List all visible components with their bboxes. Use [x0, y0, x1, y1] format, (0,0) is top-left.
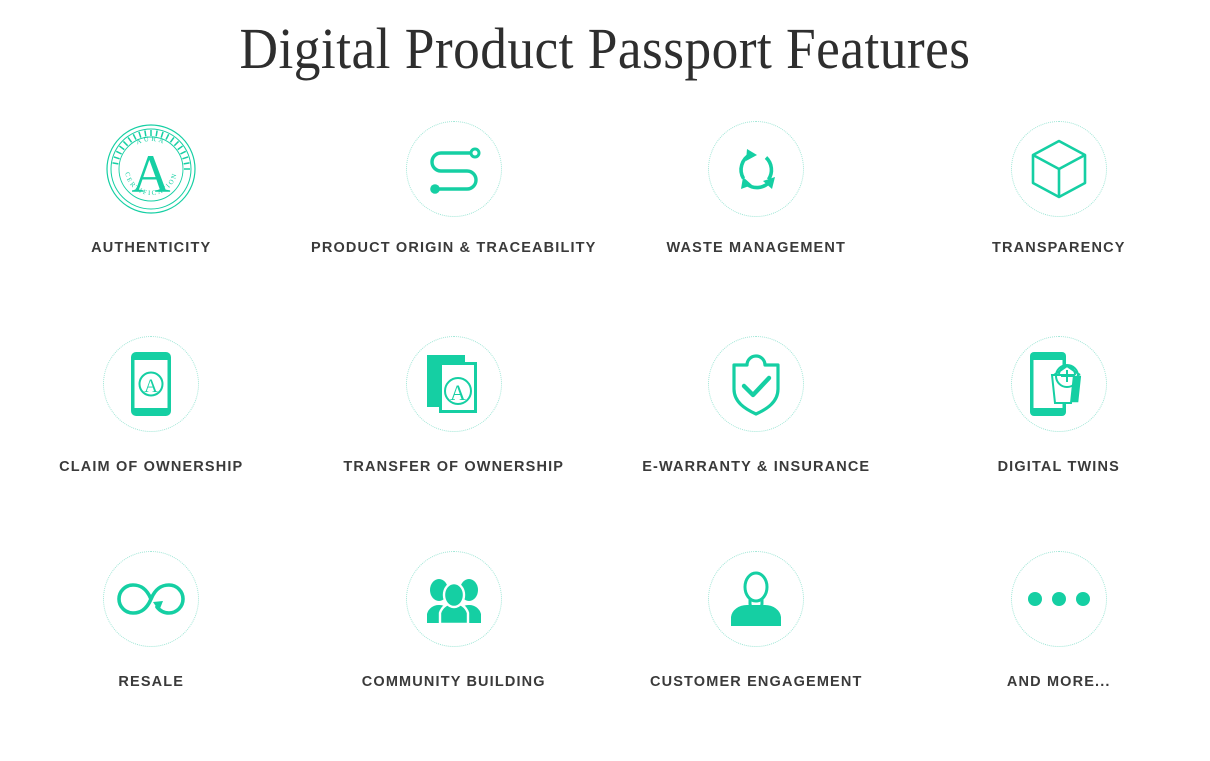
shield-check-icon	[729, 353, 783, 415]
icon-container	[708, 551, 804, 647]
icon-container: A	[406, 336, 502, 432]
icon-container	[406, 551, 502, 647]
features-grid: AURA CERTIFICATION A AUTHENTICITY	[0, 121, 1210, 761]
icon-container	[1011, 336, 1107, 432]
feature-item-waste-management[interactable]: WASTE MANAGEMENT	[605, 121, 908, 336]
feature-item-product-origin-traceability[interactable]: PRODUCT ORIGIN & TRACEABILITY	[303, 121, 606, 336]
stacked-documents-a-logo-icon: A	[425, 353, 483, 415]
group-of-people-icon	[421, 573, 487, 625]
feature-label: CUSTOMER ENGAGEMENT	[650, 674, 863, 690]
feature-item-and-more[interactable]: AND MORE...	[908, 551, 1210, 761]
feature-item-digital-twins[interactable]: DIGITAL TWINS	[908, 336, 1210, 551]
feature-item-claim-of-ownership[interactable]: A CLAIM OF OWNERSHIP	[0, 336, 303, 551]
single-person-icon	[728, 571, 784, 627]
feature-label: TRANSPARENCY	[992, 240, 1126, 256]
feature-label: AUTHENTICITY	[91, 240, 211, 256]
page-title: Digital Product Passport Features	[48, 0, 1161, 83]
feature-label: CLAIM OF OWNERSHIP	[59, 459, 243, 475]
feature-label: DIGITAL TWINS	[998, 459, 1120, 475]
icon-container	[1011, 121, 1107, 217]
feature-label: PRODUCT ORIGIN & TRACEABILITY	[311, 240, 597, 256]
feature-item-transparency[interactable]: TRANSPARENCY	[908, 121, 1210, 336]
infinity-arrow-icon	[119, 579, 183, 619]
icon-container	[1011, 551, 1107, 647]
icon-container	[708, 121, 804, 217]
traceability-path-icon	[424, 143, 484, 195]
feature-item-transfer-of-ownership[interactable]: A TRANSFER OF OWNERSHIP	[303, 336, 606, 551]
feature-label: WASTE MANAGEMENT	[666, 240, 846, 256]
icon-container: A	[103, 336, 199, 432]
icon-container	[103, 551, 199, 647]
recycle-arrows-icon	[727, 140, 785, 198]
phone-with-shopping-bag-icon	[1028, 351, 1090, 417]
icon-container	[406, 121, 502, 217]
svg-text:A: A	[450, 380, 466, 405]
feature-item-authenticity[interactable]: AURA CERTIFICATION A AUTHENTICITY	[0, 121, 303, 336]
feature-item-resale[interactable]: RESALE	[0, 551, 303, 761]
ellipsis-dots-icon	[1027, 591, 1091, 607]
digital-product-passport-features-page: Digital Product Passport Features	[0, 0, 1210, 761]
icon-container: AURA CERTIFICATION A	[103, 121, 199, 217]
feature-item-community-building[interactable]: COMMUNITY BUILDING	[303, 551, 606, 761]
phone-with-a-logo-icon: A	[130, 351, 172, 417]
feature-label: E-WARRANTY & INSURANCE	[642, 459, 870, 475]
seal-center-letter: A	[132, 144, 171, 204]
feature-label: RESALE	[118, 674, 184, 690]
feature-label: AND MORE...	[1007, 674, 1111, 690]
svg-text:A: A	[144, 376, 158, 397]
aura-certification-seal-icon: AURA CERTIFICATION A	[103, 121, 199, 217]
icon-container	[708, 336, 804, 432]
feature-label: TRANSFER OF OWNERSHIP	[343, 459, 564, 475]
feature-label: COMMUNITY BUILDING	[362, 674, 546, 690]
feature-item-customer-engagement[interactable]: CUSTOMER ENGAGEMENT	[605, 551, 908, 761]
wireframe-cube-icon	[1030, 138, 1088, 200]
feature-item-e-warranty-insurance[interactable]: E-WARRANTY & INSURANCE	[605, 336, 908, 551]
